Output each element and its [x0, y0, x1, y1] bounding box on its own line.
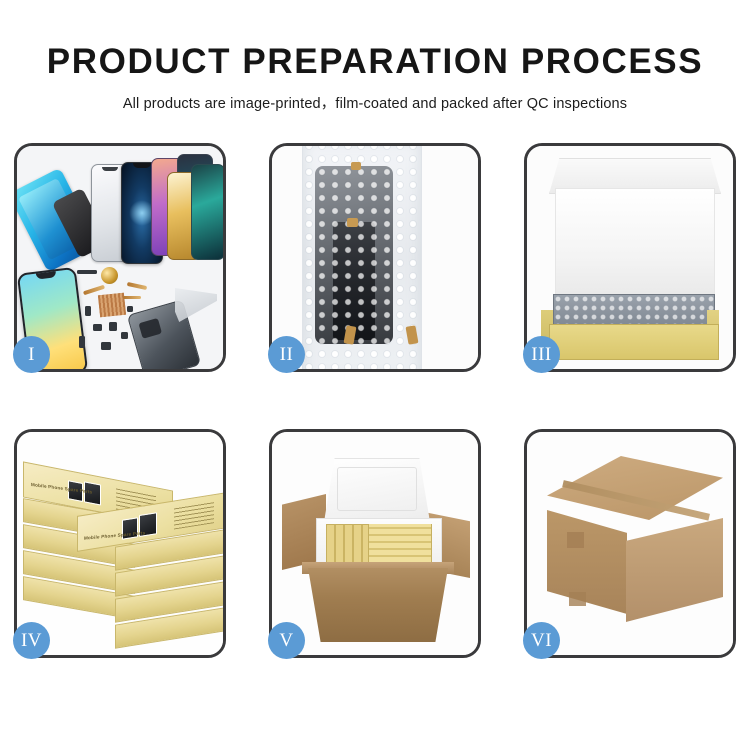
step-badge-4: IV: [13, 622, 50, 659]
carton-right-face-icon: [626, 518, 723, 622]
process-step-card-1[interactable]: I: [14, 143, 226, 372]
wrapped-screen-icon: [315, 166, 393, 344]
step-badge-3: III: [523, 336, 560, 373]
small-part-icon: [101, 342, 111, 350]
tweezer-tool-icon: [175, 288, 217, 322]
carton-tape-icon: [569, 592, 586, 606]
flex-cable-icon: [127, 282, 147, 290]
white-foam-sheet-icon: [555, 188, 715, 302]
box-spec-lines: [174, 501, 214, 529]
step-badge-5: V: [268, 622, 305, 659]
small-part-icon: [121, 332, 128, 339]
inner-yellow-boxes-icon: [368, 524, 431, 562]
small-part-icon: [127, 306, 133, 312]
page-header: PRODUCT PREPARATION PROCESS All products…: [0, 0, 750, 113]
step-badge-1: I: [13, 336, 50, 373]
chip-board-part-icon: [98, 293, 126, 318]
page-title: PRODUCT PREPARATION PROCESS: [0, 0, 750, 81]
carton-left-face-icon: [547, 510, 627, 614]
carton-body-icon: [308, 568, 448, 642]
small-part-icon: [79, 336, 85, 348]
process-step-grid: I II III: [14, 143, 736, 658]
page-subtitle: All products are image-printed，film-coat…: [0, 81, 750, 113]
bubble-wrap-bag-icon: [302, 146, 422, 369]
flex-cable-icon: [123, 296, 141, 299]
step-badge-6: VI: [523, 622, 560, 659]
grey-bubble-wrap-icon: [553, 294, 715, 328]
foam-lid-icon: [324, 458, 430, 522]
small-part-icon: [109, 322, 117, 331]
tape-piece-icon: [406, 325, 419, 344]
tape-piece-icon: [351, 162, 361, 170]
step-6-image: [527, 432, 733, 655]
step-4-image: Mobile Phone Spare Parts Mobile Phone Sp…: [17, 432, 223, 655]
process-step-card-3[interactable]: III: [524, 143, 736, 372]
small-part-icon: [85, 306, 91, 316]
step-badge-2: II: [268, 336, 305, 373]
process-step-card-6[interactable]: VI: [524, 429, 736, 658]
phone-green-display-icon: [191, 164, 223, 260]
box-stack-icon: Mobile Phone Spare Parts Mobile Phone Sp…: [21, 452, 223, 652]
flex-cable-icon: [83, 285, 105, 296]
process-step-card-4[interactable]: Mobile Phone Spare Parts Mobile Phone Sp…: [14, 429, 226, 658]
gold-coil-part-icon: [101, 267, 118, 284]
small-part-icon: [77, 270, 97, 274]
step-1-image: [17, 146, 223, 369]
process-step-card-5[interactable]: V: [269, 429, 481, 658]
process-step-card-2[interactable]: II: [269, 143, 481, 372]
box-brand-label: Mobile Phone Spare Parts: [84, 530, 146, 540]
box-front-panel-icon: [549, 324, 719, 360]
step-2-image: [272, 146, 478, 369]
carton-tape-icon: [567, 532, 584, 548]
tape-piece-icon: [347, 218, 358, 227]
step-5-image: [272, 432, 478, 655]
step-3-image: [527, 146, 733, 369]
small-part-icon: [93, 324, 102, 331]
